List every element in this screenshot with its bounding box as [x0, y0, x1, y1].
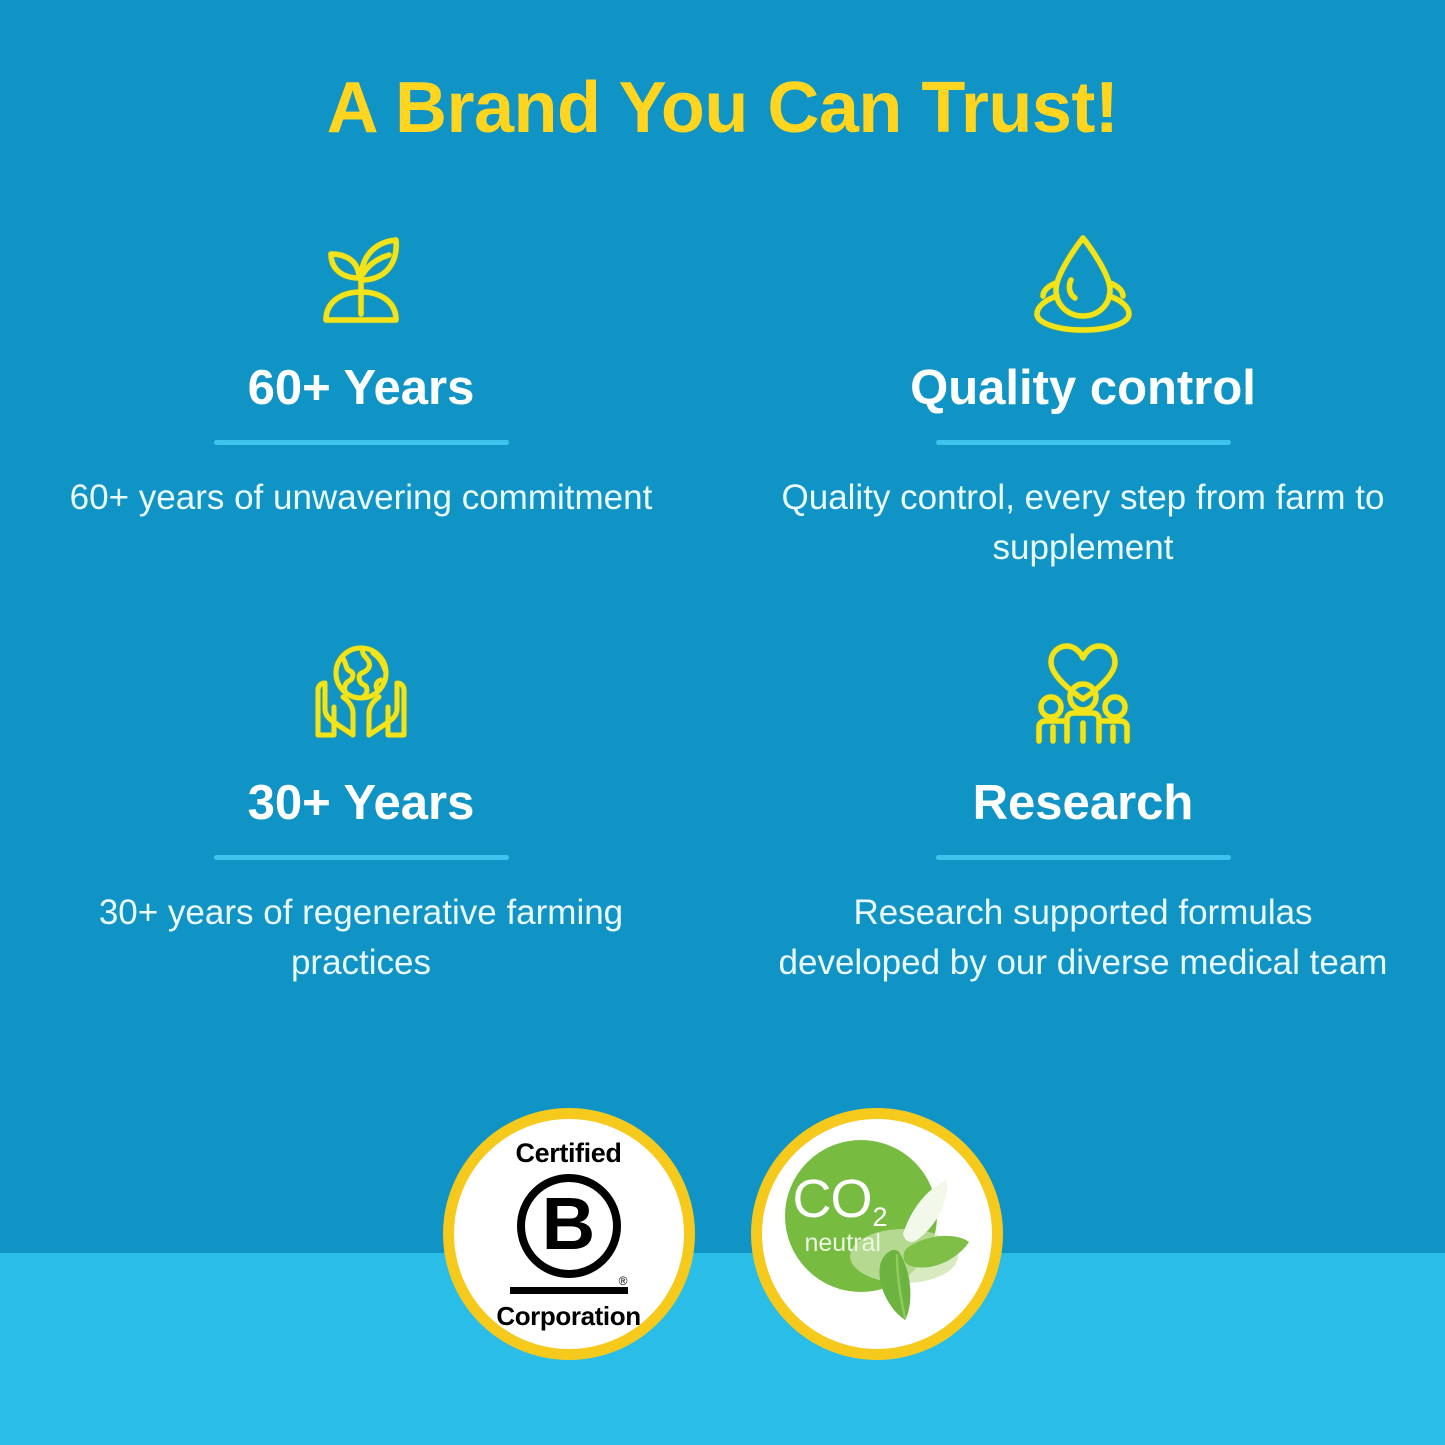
bcorp-rule: [510, 1287, 628, 1294]
feature-description: 30+ years of regenerative farming practi…: [55, 888, 667, 987]
feature-title: Quality control: [910, 363, 1256, 414]
page-title: A Brand You Can Trust!: [0, 72, 1445, 144]
feature-divider: [936, 855, 1231, 860]
certified-b-corporation-badge: Certified B ® Corporation: [443, 1108, 695, 1360]
feature-divider: [214, 855, 509, 860]
sprout-icon: [301, 215, 421, 345]
feature-card-60-years: 60+ Years 60+ years of unwavering commit…: [0, 215, 722, 630]
family-heart-icon: [1023, 630, 1143, 760]
feature-divider: [936, 440, 1231, 445]
feature-grid: 60+ Years 60+ years of unwavering commit…: [0, 215, 1445, 988]
bcorp-top-label: Certified: [516, 1140, 622, 1167]
hands-holding-globe-icon: [301, 630, 421, 760]
feature-card-research: Research Research supported formulas dev…: [722, 630, 1444, 988]
leaf-cluster-icon: [771, 1128, 983, 1340]
promo-graphic: A Brand You Can Trust! 60+ Years 60+ yea…: [0, 0, 1445, 1445]
bcorp-bottom-label: Corporation: [496, 1303, 640, 1329]
co2-neutral-badge: CO2 neutral: [751, 1108, 1003, 1360]
bcorp-rule-row: ®: [510, 1287, 628, 1294]
feature-description: 60+ years of unwavering commitment: [70, 473, 653, 523]
bcorp-circled-b: B: [517, 1174, 621, 1278]
feature-description: Research supported formulas developed by…: [777, 888, 1389, 987]
co2-logo: CO2 neutral: [771, 1128, 983, 1340]
feature-title: 60+ Years: [248, 363, 475, 414]
feature-title: Research: [973, 778, 1194, 829]
registered-trademark-icon: ®: [619, 1275, 628, 1287]
bcorp-letter: B: [542, 1187, 595, 1261]
feature-divider: [214, 440, 509, 445]
feature-title: 30+ Years: [248, 778, 475, 829]
certification-badges: Certified B ® Corporation: [0, 1108, 1445, 1360]
water-drop-icon: [1023, 215, 1143, 345]
feature-card-30-years: 30+ Years 30+ years of regenerative farm…: [0, 630, 722, 988]
bcorp-logo: Certified B ® Corporation: [496, 1140, 640, 1329]
feature-description: Quality control, every step from farm to…: [777, 473, 1389, 572]
feature-card-quality-control: Quality control Quality control, every s…: [722, 215, 1444, 630]
